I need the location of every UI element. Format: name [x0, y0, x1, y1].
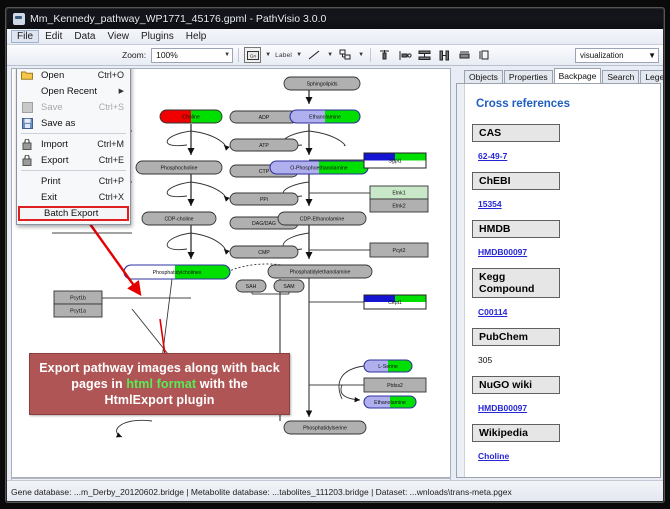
xref-label-nugo-wiki: NuGO wiki: [472, 376, 560, 394]
menu-item-save: Save Ctrl+S: [17, 99, 130, 115]
visualization-combo[interactable]: visualization ▼: [575, 48, 659, 63]
xref-value-kegg-compound[interactable]: C00114: [478, 307, 507, 317]
datanode-dropdown-icon[interactable]: ▼: [264, 52, 272, 58]
callout-line-1: Export pathway images along with back: [39, 360, 280, 376]
pathvisio-icon: [13, 13, 25, 25]
menu-separator-2: [21, 170, 126, 171]
menu-item-import-label: Import: [35, 139, 97, 150]
menu-item-exit-label: Exit: [35, 192, 99, 203]
distribute-vertical-icon[interactable]: [416, 47, 433, 63]
save-icon: [19, 101, 35, 114]
pathway-node-label: SAM: [283, 284, 294, 290]
blank-icon: [19, 85, 35, 98]
menu-item-exit[interactable]: Exit Ctrl+X: [17, 189, 130, 205]
tab-legend[interactable]: Legend: [640, 70, 664, 83]
line-dropdown-icon[interactable]: ▼: [326, 52, 334, 58]
pathway-metabolite-node[interactable]: SAM: [274, 280, 304, 292]
align-top-icon[interactable]: [376, 47, 393, 63]
pathway-node-label: Ethanolamine: [309, 115, 341, 121]
pathway-node-label: Choline: [182, 115, 200, 121]
pathway-node-label: Pcyt1b: [70, 296, 86, 302]
pathway-node-label: Pcyt2: [393, 248, 406, 254]
pathway-node-label: Phosphatidylethanolamine: [290, 270, 351, 276]
cross-references-heading: Cross references: [476, 98, 652, 110]
visualization-value: visualization: [580, 51, 624, 60]
menu-item-save-as[interactable]: Save as: [17, 115, 130, 131]
menu-item-print[interactable]: Print Ctrl+P: [17, 173, 130, 189]
pathway-metabolite-node[interactable]: Sphingolipids: [284, 77, 360, 90]
annotation-callout: Export pathway images along with back pa…: [29, 353, 290, 415]
pathway-metabolite-node[interactable]: ATP: [230, 139, 298, 151]
xref-label-pubchem: PubChem: [472, 328, 560, 346]
xref-value-pubchem: 305: [478, 355, 492, 365]
xref-value-wikipedia[interactable]: Choline: [478, 451, 509, 461]
distribute-horizontal-icon[interactable]: [436, 47, 453, 63]
backpage-content: Cross references CAS 62-49-7 ChEBI 15354…: [456, 83, 661, 478]
same-height-icon[interactable]: [476, 47, 493, 63]
pathway-node-label: Etnk1: [392, 191, 405, 197]
menu-item-batch-export-label: Batch Export: [38, 208, 127, 219]
xref-label-kegg-compound: Kegg Compound: [472, 268, 560, 298]
blank-icon: [19, 191, 35, 204]
pathway-gene-node[interactable]: Pcyt2: [370, 243, 428, 257]
chevron-down-icon: ▼: [224, 52, 230, 58]
menu-item-save-as-label: Save as: [35, 118, 124, 129]
svg-text:Gn: Gn: [250, 53, 257, 58]
pathway-node-label: CTP: [259, 169, 270, 175]
same-width-icon[interactable]: [456, 47, 473, 63]
line-icon[interactable]: [306, 47, 323, 63]
pathvisio-window: Mm_Kennedy_pathway_WP1771_45176.gpml - P…: [6, 8, 664, 502]
menu-item-open-recent[interactable]: Open Recent ▶: [17, 83, 130, 99]
window-title: Mm_Kennedy_pathway_WP1771_45176.gpml - P…: [30, 13, 326, 25]
main-body: CholinePhosphocholineCDP-cholinePhosphat…: [7, 66, 664, 480]
menu-item-open-recent-label: Open Recent: [35, 86, 119, 97]
pathway-gene-node[interactable]: Sgpl1: [364, 153, 426, 168]
import-icon: [19, 138, 35, 151]
pathway-node-label: Phosphatidylserine: [303, 426, 347, 432]
xref-label-wikipedia: Wikipedia: [472, 424, 560, 442]
menu-help[interactable]: Help: [180, 30, 213, 43]
menu-item-export[interactable]: Export Ctrl+E: [17, 152, 130, 168]
menu-item-exit-accel: Ctrl+X: [99, 192, 130, 202]
chevron-right-icon: ▶: [119, 87, 130, 95]
panel-side-rail[interactable]: [457, 84, 465, 477]
pathway-metabolite-node[interactable]: Ethanolamine: [290, 110, 360, 123]
anchor-dropdown-icon[interactable]: ▼: [357, 52, 365, 58]
menu-file[interactable]: File: [11, 30, 39, 43]
datanode-icon[interactable]: Gn: [244, 47, 261, 63]
xref-label-cas: CAS: [472, 124, 560, 142]
pathway-node-label: Phosphatidylcholines: [153, 270, 202, 276]
side-panel: Objects Properties Backpage Search Legen…: [456, 68, 661, 478]
zoom-combo[interactable]: 100% ▼: [151, 48, 233, 63]
title-bar: Mm_Kennedy_pathway_WP1771_45176.gpml - P…: [7, 9, 664, 29]
open-folder-icon: [19, 69, 35, 82]
tab-properties[interactable]: Properties: [504, 70, 553, 83]
align-left-icon[interactable]: [396, 47, 413, 63]
toolbar-separator-2: [370, 48, 371, 62]
menu-item-print-label: Print: [35, 176, 99, 187]
menu-item-import[interactable]: Import Ctrl+M: [17, 136, 130, 152]
chevron-down-icon: ▼: [648, 51, 656, 60]
pathway-node-label: Ptdss2: [387, 383, 403, 389]
anchor-icon[interactable]: [337, 47, 354, 63]
pathway-gene-node[interactable]: Pcyt1b: [54, 291, 102, 304]
pathway-node-label: CDP-Ethanolamine: [300, 217, 345, 223]
pathway-node-label: DAG/DAG: [252, 221, 276, 227]
callout-line-3: HtmlExport plugin: [104, 392, 214, 408]
pathway-metabolite-node[interactable]: Phosphatidylethanolamine: [268, 265, 372, 278]
label-dropdown-icon[interactable]: ▼: [295, 52, 303, 58]
pathway-node-label: Sphingolipids: [307, 82, 338, 88]
callout-line-2: pages in html format with the: [71, 376, 248, 392]
pathway-node-label: PPi: [260, 197, 268, 203]
xref-value-cas[interactable]: 62-49-7: [478, 151, 507, 161]
side-panel-tabs: Objects Properties Backpage Search Legen…: [456, 68, 661, 83]
pathway-gene-node[interactable]: Etnk1: [370, 186, 428, 199]
pathway-node-label: Phosphocholine: [161, 166, 198, 172]
tab-objects[interactable]: Objects: [464, 70, 503, 83]
menu-plugins[interactable]: Plugins: [135, 30, 180, 43]
toolbar: Zoom: 100% ▼ Gn ▼ Label ▼ ▼ ▼: [7, 45, 664, 66]
save-as-icon: [19, 117, 35, 130]
menu-item-open-accel: Ctrl+O: [98, 70, 130, 80]
blank-icon: [19, 175, 35, 188]
pathway-metabolite-node[interactable]: CDP-Ethanolamine: [278, 212, 366, 225]
pathway-node-label: CDP-choline: [164, 217, 193, 223]
callout-highlight: html format: [126, 377, 196, 391]
pathway-metabolite-node[interactable]: SAH: [236, 280, 266, 292]
menu-item-export-label: Export: [35, 155, 99, 166]
pathway-node-label: Ethanolamine: [374, 400, 406, 406]
menu-data[interactable]: Data: [68, 30, 101, 43]
menu-item-save-label: Save: [35, 102, 99, 113]
callout-line-2-prefix: pages in: [71, 377, 126, 391]
zoom-label: Zoom:: [122, 50, 146, 60]
pathway-node-label: ATP: [259, 143, 269, 149]
menu-item-open-label: Open: [35, 70, 98, 81]
pathway-gene-node[interactable]: Cept1: [364, 295, 426, 309]
xref-value-chebi[interactable]: 15354: [478, 199, 502, 209]
pathway-metabolite-node[interactable]: Phosphatidylserine: [284, 421, 366, 434]
xref-label-chebi: ChEBI: [472, 172, 560, 190]
menu-item-print-accel: Ctrl+P: [99, 176, 130, 186]
menu-edit[interactable]: Edit: [39, 30, 68, 43]
pathway-node-label: L-Serine: [378, 364, 398, 370]
pathway-node-label: O-Phosphoethanolamine: [290, 166, 348, 172]
pathway-metabolite-node[interactable]: O-Phosphoethanolamine: [270, 161, 368, 174]
tab-search[interactable]: Search: [602, 70, 639, 83]
menu-item-export-accel: Ctrl+E: [99, 155, 130, 165]
pathway-node-label: ADP: [259, 115, 270, 121]
pathway-node-label: Sgpl1: [388, 159, 401, 165]
pathway-metabolite-node[interactable]: Ethanolamine: [364, 396, 416, 408]
status-text: Gene database: ...m_Derby_20120602.bridg…: [7, 487, 512, 497]
pathway-metabolite-node[interactable]: ADP: [230, 111, 298, 123]
xref-label-hmdb: HMDB: [472, 220, 560, 238]
zoom-value: 100%: [156, 50, 178, 60]
pathway-gene-node[interactable]: Pcyt1a: [54, 304, 102, 317]
screenshot-frame: Mm_Kennedy_pathway_WP1771_45176.gpml - P…: [0, 0, 670, 509]
pathway-node-label: CMP: [258, 250, 270, 256]
menu-view[interactable]: View: [101, 30, 135, 43]
menu-item-open[interactable]: Open Ctrl+O: [17, 68, 130, 83]
pathway-node-label: Etnk2: [392, 204, 405, 210]
pathway-gene-node[interactable]: Etnk2: [370, 199, 428, 212]
menu-item-import-accel: Ctrl+M: [97, 139, 130, 149]
label-icon[interactable]: Label: [275, 47, 292, 63]
pathway-metabolite-node[interactable]: Phosphatidylcholines: [124, 265, 230, 279]
toolbar-separator: [238, 48, 239, 62]
pathway-metabolite-node[interactable]: PPi: [230, 193, 298, 205]
pathway-node-label: Cept1: [388, 300, 402, 306]
status-bar: Gene database: ...m_Derby_20120602.bridg…: [7, 480, 664, 502]
xref-value-hmdb[interactable]: HMDB00097: [478, 247, 527, 257]
menu-item-batch-export[interactable]: Batch Export: [18, 206, 129, 221]
file-menu-dropdown[interactable]: New Ctrl+N Open Ctrl+O Open Recent ▶: [16, 68, 131, 225]
menu-item-save-accel: Ctrl+S: [99, 102, 130, 112]
callout-line-2-suffix: with the: [196, 377, 248, 391]
pathway-metabolite-node[interactable]: CMP: [230, 246, 298, 258]
menu-separator-1: [21, 133, 126, 134]
pathway-metabolite-node[interactable]: CDP-choline: [142, 212, 216, 225]
pathway-gene-node[interactable]: Ptdss2: [364, 378, 426, 392]
pathway-node-label: SAH: [246, 284, 257, 290]
pathway-metabolite-node[interactable]: L-Serine: [364, 360, 412, 372]
pathway-node-label: Pcyt1a: [70, 309, 86, 315]
xref-value-nugo-wiki[interactable]: HMDB00097: [478, 403, 527, 413]
menu-bar: File Edit Data View Plugins Help: [7, 29, 664, 45]
pathway-metabolite-node[interactable]: Choline: [160, 110, 222, 123]
blank-icon: [22, 207, 38, 220]
tab-backpage[interactable]: Backpage: [554, 68, 602, 83]
pathway-canvas[interactable]: CholinePhosphocholineCDP-cholinePhosphat…: [11, 68, 451, 478]
pathway-metabolite-node[interactable]: Phosphocholine: [136, 161, 222, 174]
export-icon: [19, 154, 35, 167]
expression-data-heading: Expression data: [472, 476, 652, 478]
